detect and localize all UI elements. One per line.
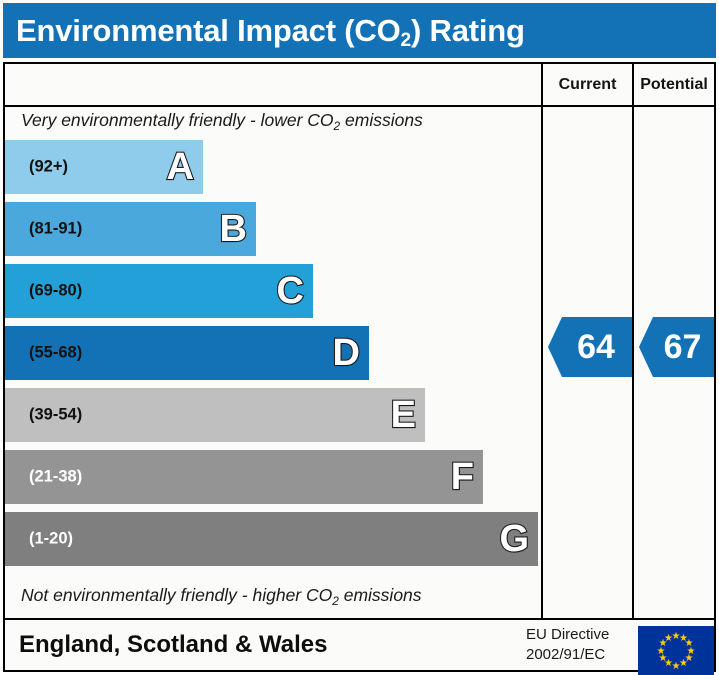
- page-title: Environmental Impact (CO2) Rating: [16, 13, 525, 49]
- footer-region-label: England, Scotland & Wales: [19, 631, 327, 659]
- rating-band-c: (69-80) C: [5, 264, 313, 318]
- rating-band-c-letter: C: [277, 272, 304, 310]
- page-title-suffix: ) Rating: [411, 13, 525, 48]
- potential-rating-pointer: 67: [639, 317, 714, 377]
- certificate-title-bar: Environmental Impact (CO2) Rating: [3, 3, 716, 58]
- rating-band-g-letter: G: [499, 520, 529, 558]
- eu-flag-star-icon: ★: [664, 634, 673, 643]
- rating-band-f-range: (21-38): [29, 468, 82, 487]
- rating-band-g-range: (1-20): [29, 530, 73, 549]
- caption-top: Very environmentally friendly - lower CO…: [21, 110, 423, 131]
- epc-environmental-impact-certificate: Environmental Impact (CO2) Rating Curren…: [0, 0, 719, 675]
- rating-band-f: (21-38) F: [5, 450, 483, 504]
- certificate-footer: England, Scotland & Wales EU Directive 2…: [5, 620, 714, 670]
- caption-top-subscript: 2: [334, 119, 341, 133]
- rating-band-b-letter: B: [220, 210, 247, 248]
- caption-top-prefix: Very environmentally friendly - lower CO: [21, 110, 334, 130]
- eu-directive-line2: 2002/91/EC: [526, 645, 609, 665]
- rating-band-e: (39-54) E: [5, 388, 425, 442]
- rating-table-frame: Current Potential Very environmentally f…: [3, 62, 716, 672]
- header-divider: [5, 105, 714, 107]
- rating-band-a-range: (92+): [29, 158, 68, 177]
- caption-bottom-subscript: 2: [332, 594, 339, 608]
- rating-band-d: (55-68) D: [5, 326, 369, 380]
- column-header-current: Current: [543, 64, 632, 105]
- page-title-prefix: Environmental Impact (CO: [16, 13, 401, 48]
- caption-bottom-suffix: emissions: [339, 585, 422, 605]
- rating-band-b-range: (81-91): [29, 220, 82, 239]
- rating-band-g: (1-20) G: [5, 512, 538, 566]
- column-header-potential: Potential: [634, 64, 714, 105]
- current-rating-pointer: 64: [548, 317, 632, 377]
- caption-top-suffix: emissions: [340, 110, 423, 130]
- potential-rating-value: 67: [652, 330, 702, 364]
- rating-band-e-letter: E: [391, 396, 416, 434]
- caption-bottom-prefix: Not environmentally friendly - higher CO: [21, 585, 332, 605]
- eu-directive-label: EU Directive 2002/91/EC: [526, 625, 609, 666]
- rating-band-c-range: (69-80): [29, 282, 82, 301]
- column-divider-current: [541, 64, 543, 620]
- column-divider-potential: [632, 64, 634, 620]
- eu-directive-line1: EU Directive: [526, 625, 609, 645]
- page-title-subscript: 2: [401, 30, 411, 51]
- caption-bottom: Not environmentally friendly - higher CO…: [21, 585, 422, 606]
- rating-band-d-letter: D: [333, 334, 360, 372]
- rating-band-b: (81-91) B: [5, 202, 256, 256]
- rating-band-f-letter: F: [451, 458, 474, 496]
- rating-band-list: (92+) A (81-91) B (69-80) C (55-68) D (3…: [5, 140, 541, 582]
- rating-band-a-letter: A: [167, 148, 194, 186]
- rating-band-a: (92+) A: [5, 140, 203, 194]
- rating-band-e-range: (39-54): [29, 406, 82, 425]
- eu-flag-icon: ★★★★★★★★★★★★: [638, 626, 714, 675]
- rating-band-d-range: (55-68): [29, 344, 82, 363]
- current-rating-value: 64: [565, 330, 615, 364]
